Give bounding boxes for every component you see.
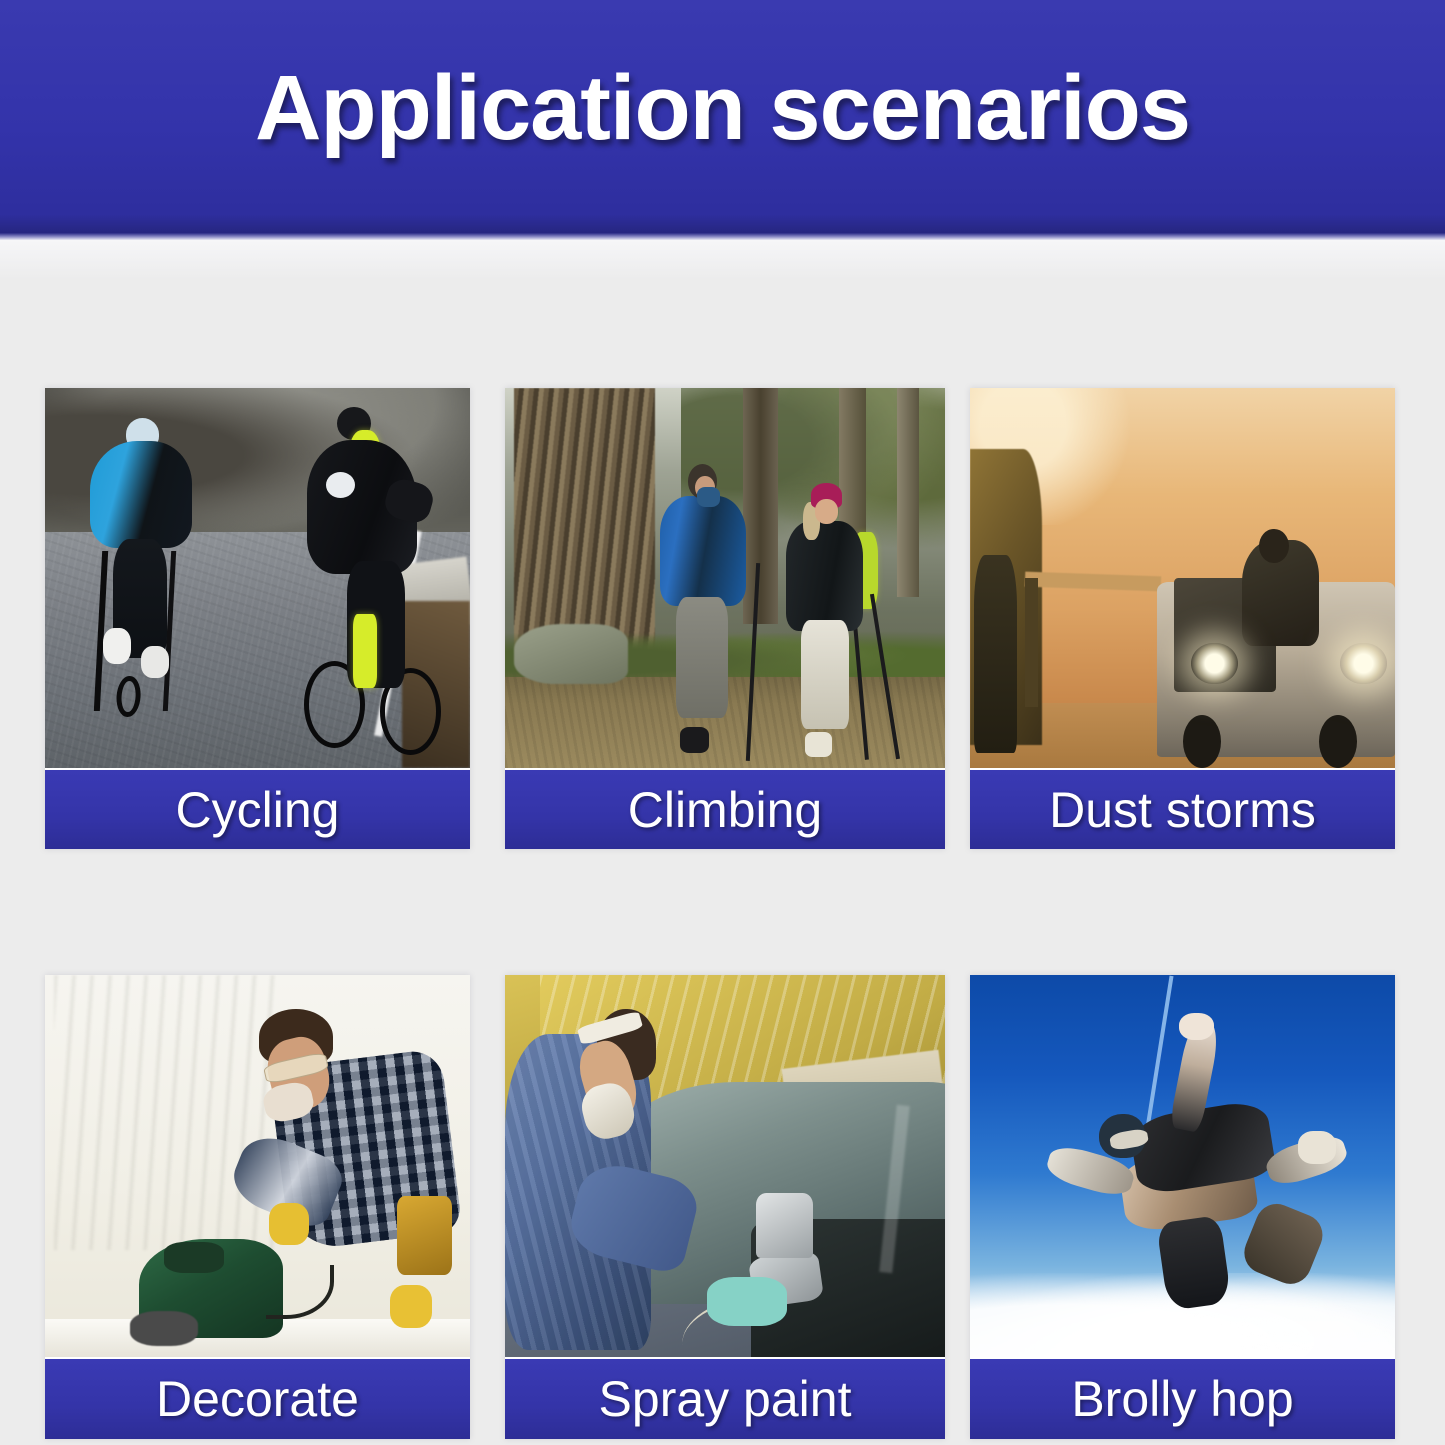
hiker-jacket-dark (786, 521, 863, 630)
mossy-rock (514, 624, 628, 685)
teal-glove (707, 1277, 786, 1327)
scenario-card-brolly-hop[interactable]: Brolly hop (970, 975, 1395, 1439)
cyclist-torso-left (90, 441, 192, 548)
decorate-label-text: Decorate (156, 1374, 359, 1424)
person-head (1259, 529, 1289, 563)
hiker-female-red-bandana (778, 483, 875, 757)
scenario-card-cycling[interactable]: Cycling (45, 388, 470, 849)
truck-headlight-left (1191, 643, 1238, 685)
scenario-card-spray-paint[interactable]: Spray paint (505, 975, 945, 1439)
background-fade (0, 240, 1445, 280)
skydiver-raised-hand (1179, 1013, 1214, 1041)
hiker-face-mask (697, 487, 720, 507)
cyclist-blue-jersey (75, 415, 203, 711)
painter (505, 998, 734, 1357)
truck-wheel-front (1183, 715, 1221, 768)
decorate-photo (45, 975, 470, 1357)
hiker-boot-male (680, 727, 709, 753)
tree-trunk-4 (897, 388, 919, 597)
climbing-label-text: Climbing (628, 785, 823, 835)
hiker-face-female (815, 499, 838, 524)
skydiver-boot (1298, 1131, 1336, 1164)
spray-paint-label-text: Spray paint (599, 1374, 852, 1424)
header-banner: Application scenarios (0, 0, 1445, 233)
climbing-photo (505, 388, 945, 768)
dust-storms-photo (970, 388, 1395, 768)
spray-paint-photo (505, 975, 945, 1357)
scenario-card-climbing[interactable]: Climbing (505, 388, 945, 849)
scenario-card-dust-storms[interactable]: Dust storms (970, 388, 1395, 849)
cycling-photo (45, 388, 470, 768)
tandem-skydivers (1047, 1021, 1336, 1296)
brolly-hop-label-text: Brolly hop (1071, 1374, 1293, 1424)
dust-storms-label-bar: Dust storms (970, 768, 1395, 849)
hiker-pants-grey (676, 597, 728, 718)
truck-wheel-rear (1319, 715, 1357, 768)
banner-underline-divider (0, 233, 1445, 240)
cyclist-sock-left-b (141, 646, 169, 679)
cycling-label-bar: Cycling (45, 768, 470, 849)
hiker-male-blue-jacket (655, 464, 752, 753)
brolly-hop-label-bar: Brolly hop (970, 1357, 1395, 1439)
saw-handle (164, 1242, 224, 1273)
climbing-label-bar: Climbing (505, 768, 945, 849)
brolly-hop-photo (970, 975, 1395, 1357)
scenario-card-decorate[interactable]: Decorate (45, 975, 470, 1439)
cyclist-sock-left-a (103, 628, 131, 664)
application-scenarios-infographic: Application scenarios (0, 0, 1445, 1445)
page-title: Application scenarios (255, 62, 1190, 154)
cycling-label-text: Cycling (176, 785, 340, 835)
cyclist-black-kit (292, 407, 445, 741)
hiker-boot-female (805, 732, 832, 757)
decorate-label-bar: Decorate (45, 1357, 470, 1439)
yellow-glove-right (269, 1203, 308, 1246)
dust-storms-label-text: Dust storms (1049, 785, 1316, 835)
scenario-grid: Cycling (45, 388, 1405, 1435)
skydiver-leg-b (1238, 1197, 1329, 1289)
scenario-grid-row-1: Cycling (45, 388, 1405, 848)
truck-headlight-right (1340, 643, 1387, 685)
saw-blade (130, 1311, 198, 1345)
tool-belt (397, 1196, 451, 1275)
hi-vis-patch-leg (353, 614, 377, 688)
hiker-pants-light (801, 620, 849, 729)
scenario-grid-row-2: Decorate (45, 975, 1405, 1435)
yellow-glove-left (390, 1285, 432, 1328)
hiker-jacket-blue (660, 496, 745, 606)
spray-gun-paint-cup (756, 1193, 813, 1258)
spray-paint-label-bar: Spray paint (505, 1357, 945, 1439)
worker-silhouette (974, 555, 1017, 753)
machinery-post (1025, 578, 1038, 707)
